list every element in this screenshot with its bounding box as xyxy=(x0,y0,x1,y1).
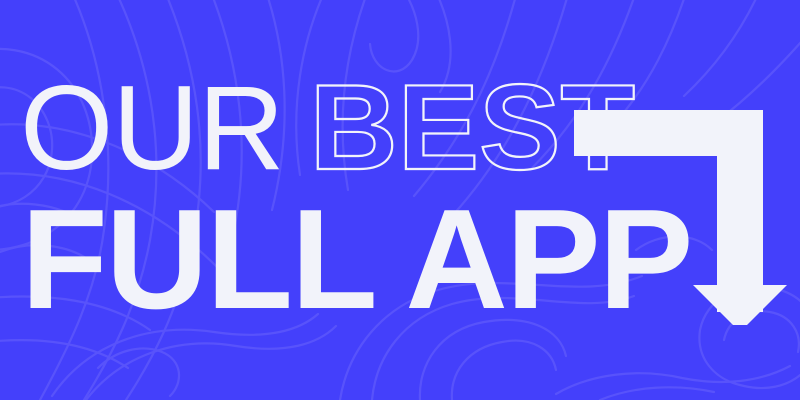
banner-content: OUR BEST FULL APP xyxy=(0,0,800,400)
headline-word-our: OUR xyxy=(20,73,284,183)
promo-banner: OUR BEST FULL APP xyxy=(0,0,800,400)
elbow-down-arrow-icon xyxy=(566,100,800,325)
headline-line-1: OUR BEST xyxy=(20,72,635,182)
